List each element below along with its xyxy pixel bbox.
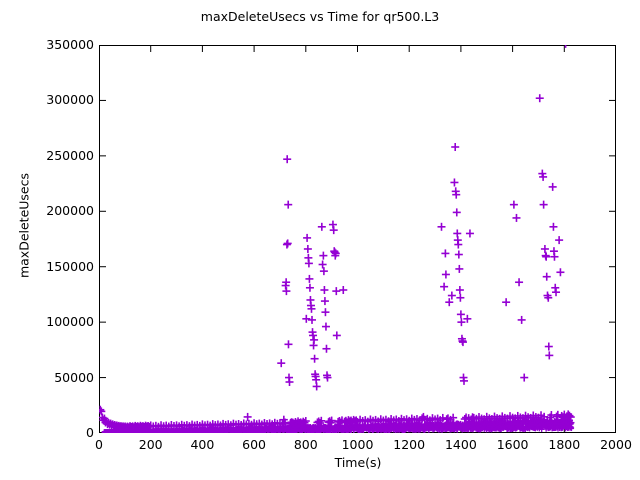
y-tick-label: 250000 [4, 148, 94, 163]
plot-frame [99, 45, 616, 433]
y-tick-label: 150000 [4, 259, 94, 274]
y-tick-label: 100000 [4, 314, 94, 329]
x-tick-label: 2000 [581, 437, 640, 452]
y-tick-label: 350000 [4, 37, 94, 52]
y-tick-label: 200000 [4, 203, 94, 218]
y-tick-label: 300000 [4, 92, 94, 107]
page-title: maxDeleteUsecs vs Time for qr500.L3 [0, 9, 640, 24]
x-axis-label: Time(s) [99, 455, 617, 470]
chart-page: maxDeleteUsecs vs Time for qr500.L3 pg18… [0, 0, 640, 480]
y-tick-label: 50000 [4, 370, 94, 385]
y-axis-label: maxDeleteUsecs [17, 156, 32, 296]
